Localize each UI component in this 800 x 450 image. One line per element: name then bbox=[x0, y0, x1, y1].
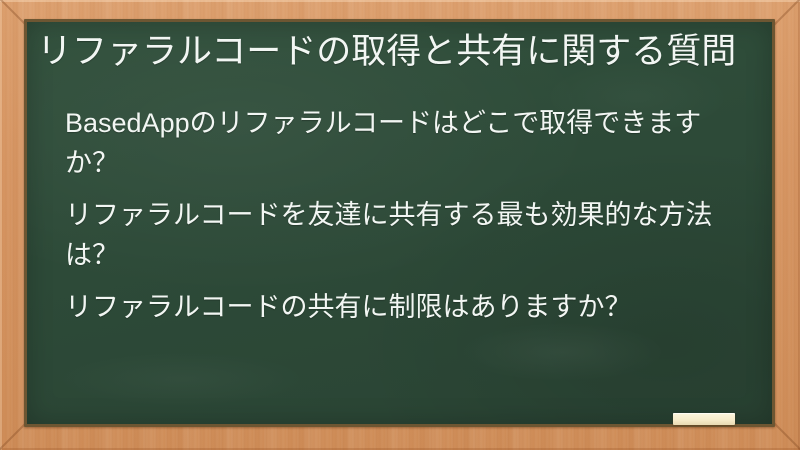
chalkboard-scene: リファラルコードの取得と共有に関する質問 BasedAppのリファラルコードはど… bbox=[0, 0, 800, 450]
chalk-dust-smudge bbox=[457, 322, 667, 382]
page-title: リファラルコードの取得と共有に関する質問 bbox=[37, 28, 762, 75]
chalk-stick bbox=[673, 413, 735, 425]
list-item: リファラルコードを友達に共有する最も効果的な方法は？ bbox=[65, 195, 744, 275]
board-content: リファラルコードの取得と共有に関する質問 BasedAppのリファラルコードはど… bbox=[37, 28, 762, 327]
list-item: リファラルコードの共有に制限はありますか？ bbox=[65, 287, 744, 327]
chalk-dust-smudge bbox=[57, 352, 307, 406]
chalkboard-slate: リファラルコードの取得と共有に関する質問 BasedAppのリファラルコードはど… bbox=[27, 22, 772, 424]
list-item: BasedAppのリファラルコードはどこで取得できますか？ bbox=[65, 103, 744, 183]
question-list: BasedAppのリファラルコードはどこで取得できますか？ リファラルコードを友… bbox=[37, 103, 762, 327]
